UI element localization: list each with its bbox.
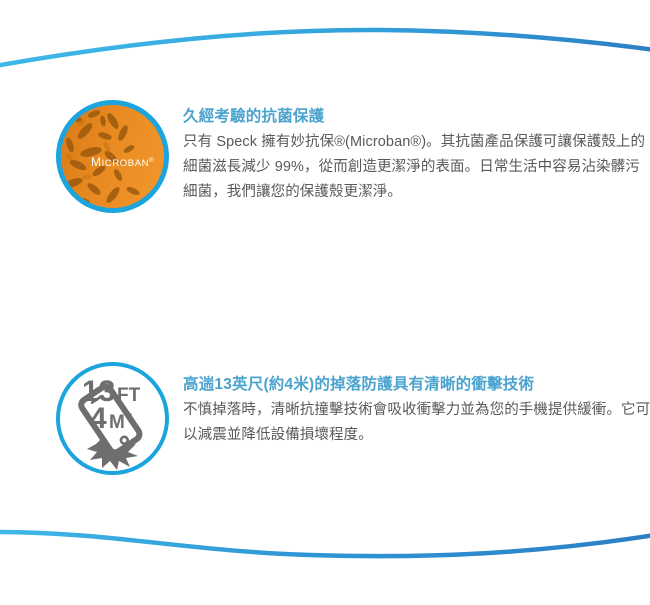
feature-row-microban: MICROBAN® 久經考驗的抗菌保護 只有 Speck 擁有妙抗保®(Micr…: [56, 100, 650, 213]
drop-protection-heading: 高遄13英尺(約4米)的掉落防護具有清晰的衝擊技術: [183, 374, 650, 396]
microban-bacteria-badge-icon: MICROBAN®: [56, 100, 169, 213]
svg-text:4: 4: [90, 402, 107, 435]
drop-protection-description: 不慎掉落時，清晰抗撞擊技術會吸收衝擊力並為您的手機提供緩衝。它可以減震並降低設備…: [183, 398, 650, 448]
microban-text-block: 久經考驗的抗菌保護 只有 Speck 擁有妙抗保®(Microban®)。其抗菌…: [183, 100, 650, 205]
svg-text:FT: FT: [117, 385, 141, 406]
microban-wordmark: MICROBAN®: [91, 155, 154, 169]
microban-heading: 久經考驗的抗菌保護: [183, 106, 650, 128]
feature-row-drop-protection: 13 FT 4 M * 高遄13英尺(約4米)的掉落防護具有清晰的衝擊技術 不慎…: [56, 362, 650, 475]
microban-description: 只有 Speck 擁有妙抗保®(Microban®)。其抗菌產品保護可讓保護殼上…: [183, 130, 650, 205]
svg-text:*: *: [126, 409, 132, 426]
bottom-wave-divider: [0, 515, 650, 600]
phone-drop-illustration: 13 FT 4 M *: [60, 366, 165, 471]
product-feature-page: MICROBAN® 久經考驗的抗菌保護 只有 Speck 擁有妙抗保®(Micr…: [0, 0, 650, 600]
top-wave-divider: [0, 0, 650, 100]
svg-text:M: M: [109, 412, 125, 433]
drop-protection-phone-impact-icon: 13 FT 4 M *: [56, 362, 169, 475]
drop-protection-text-block: 高遄13英尺(約4米)的掉落防護具有清晰的衝擊技術 不慎掉落時，清晰抗撞擊技術會…: [183, 362, 650, 448]
